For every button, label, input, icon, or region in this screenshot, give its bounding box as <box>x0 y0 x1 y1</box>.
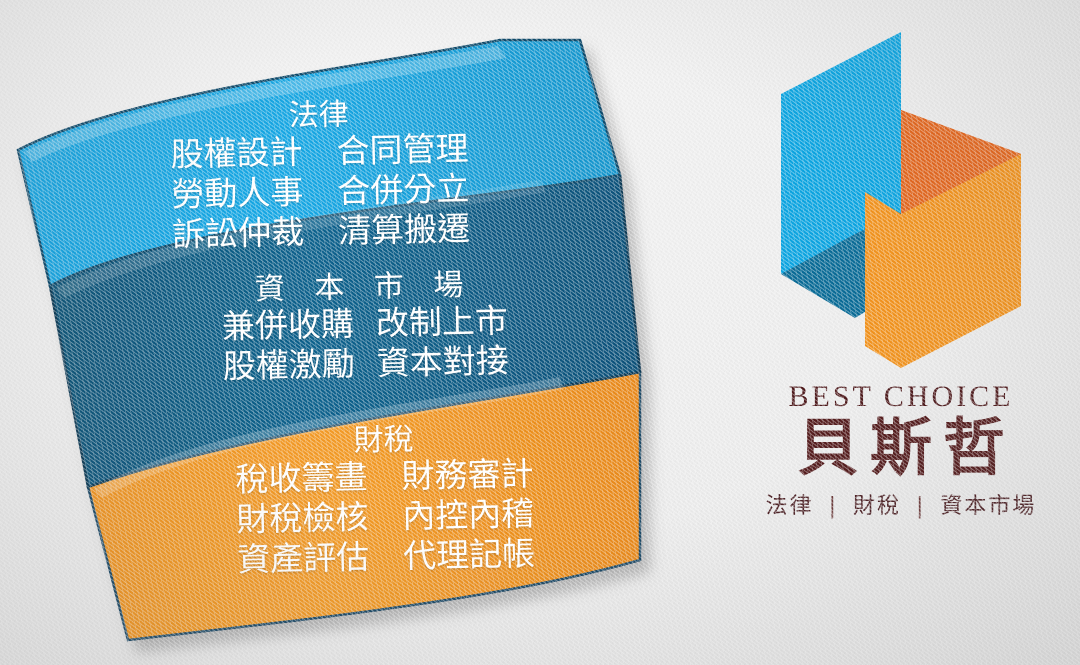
logo-tagline: 法律 | 財稅 | 資本市場 <box>756 488 1046 520</box>
company-logo: BEST CHOICE 貝斯哲 法律 | 財稅 | 資本市場 <box>756 22 1046 520</box>
tagline-item: 法律 <box>766 494 814 519</box>
tagline-item: 財稅 <box>853 494 901 519</box>
poster-canvas: 法律 股權設計 合同管理 勞動人事 合併分立 訴訟仲裁 清算搬遷 資 本 市 場… <box>0 0 1080 665</box>
tagline-item: 資本市場 <box>940 494 1036 519</box>
interlocking-parallelograms-logo-icon <box>775 22 1027 374</box>
logo-wordmark-en: BEST CHOICE <box>756 380 1046 413</box>
tagline-separator: | <box>910 494 931 519</box>
tagline-separator: | <box>823 494 844 519</box>
ribbon-flag-graphic <box>0 0 720 665</box>
logo-wordmark-zh: 貝斯哲 <box>756 415 1046 482</box>
